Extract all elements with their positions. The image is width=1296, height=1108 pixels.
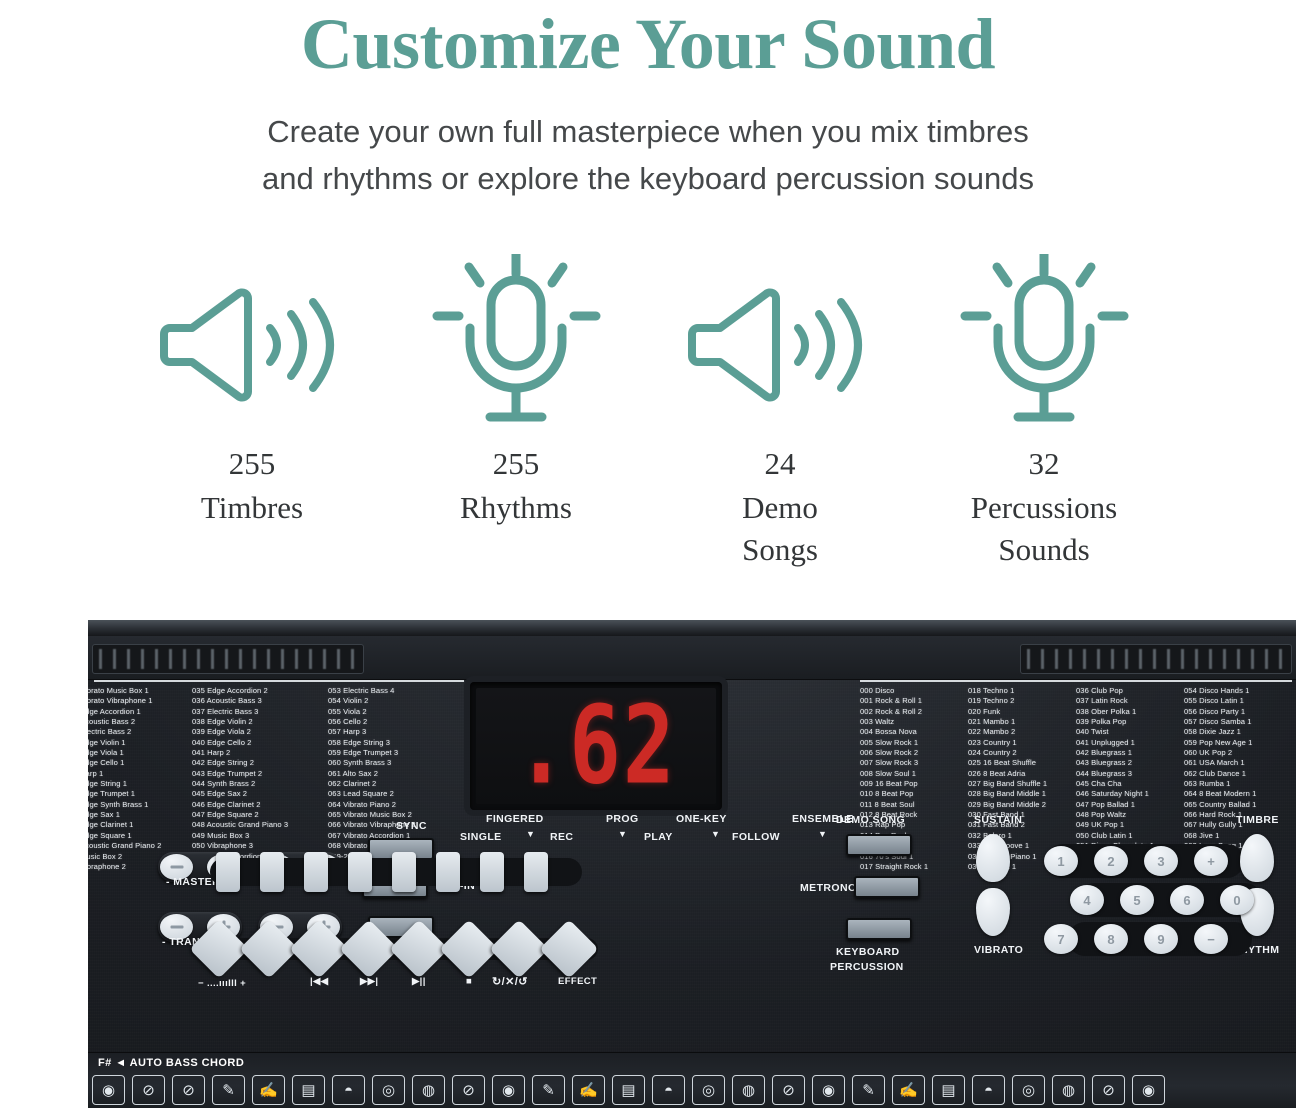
rhythm-entry: 059 Pop New Age 1 xyxy=(1184,738,1292,748)
snare-icon[interactable]: ◍ xyxy=(732,1075,765,1105)
timbre-entry: 062 Clarinet 2 xyxy=(328,779,458,789)
keypad-key-1[interactable]: 1 xyxy=(1044,846,1078,876)
mode-button[interactable] xyxy=(436,852,460,892)
demo-song-button[interactable] xyxy=(846,834,912,856)
stop-button[interactable] xyxy=(439,919,498,978)
mode-button[interactable] xyxy=(304,852,328,892)
sustain-button[interactable] xyxy=(976,834,1010,882)
rhythm-entry: 043 Bluegrass 2 xyxy=(1076,758,1184,768)
mode-button[interactable] xyxy=(348,852,372,892)
promo-page: Customize Your Sound Create your own ful… xyxy=(0,0,1296,1108)
timbre-entry: Electric Bass 2 xyxy=(88,727,192,737)
rhythm-entry: 011 8 Beat Soul xyxy=(860,800,968,810)
sync-label: SYNC xyxy=(396,820,427,832)
cymbal-icon[interactable]: ⊘ xyxy=(772,1075,805,1105)
timbre-entry: 063 Lead Square 2 xyxy=(328,789,458,799)
keyboard-percussion-label-2: PERCUSSION xyxy=(830,961,904,973)
keypad-key-3[interactable]: 3 xyxy=(1144,846,1178,876)
rhythm-entry: 037 Latin Rock xyxy=(1076,696,1184,706)
drum-icon[interactable]: ◉ xyxy=(492,1075,525,1105)
timbre-entry: 039 Edge Viola 2 xyxy=(192,727,328,737)
timbre-entry: Edge Accordion 1 xyxy=(88,707,192,717)
feature-rhythms: 255 Rhythms xyxy=(384,250,648,529)
speaker-waves-icon xyxy=(688,250,873,440)
rhythm-entry: 057 Disco Samba 1 xyxy=(1184,717,1292,727)
feature-caption-line-1: Percussions xyxy=(971,487,1117,529)
timbre-entry: 064 Vibrato Piano 2 xyxy=(328,800,458,810)
rhythm-entry: 056 Disco Party 1 xyxy=(1184,707,1292,717)
rhythm-entry: 058 Dixie Jazz 1 xyxy=(1184,727,1292,737)
timbre-entry: 038 Edge Violin 2 xyxy=(192,717,328,727)
hand-clap-icon[interactable]: ✍ xyxy=(252,1075,285,1105)
brush-icon[interactable]: ✎ xyxy=(532,1075,565,1105)
timbre-entry: Edge Trumpet 1 xyxy=(88,789,192,799)
timbre-entry: 035 Edge Accordion 2 xyxy=(192,686,328,696)
timbre-entry: 046 Edge Clarinet 2 xyxy=(192,800,328,810)
rhythm-entry: 036 Club Pop xyxy=(1076,686,1184,696)
led-display: .62 xyxy=(470,682,722,810)
chevron-down-icon: ▼ xyxy=(526,829,535,839)
rhythm-entry: 003 Waltz xyxy=(860,717,968,727)
timbre-entry: 045 Edge Sax 2 xyxy=(192,789,328,799)
rhythm-entry: 019 Techno 2 xyxy=(968,696,1076,706)
timbre-entry: 058 Edge String 3 xyxy=(328,738,458,748)
chevron-down-icon: ▼ xyxy=(818,829,827,839)
subtitle-line-1: Create your own full masterpiece when yo… xyxy=(0,108,1296,155)
mode-button[interactable] xyxy=(480,852,504,892)
feature-number: 255 xyxy=(493,442,540,487)
rhythm-entry: 061 USA March 1 xyxy=(1184,758,1292,768)
timbre-entry: 037 Electric Bass 3 xyxy=(192,707,328,717)
control-panel: - MASTER VOL + - ACCOM VOL + - TRANSPOSE… xyxy=(88,816,1296,1072)
tom-icon[interactable]: ◓ xyxy=(652,1075,685,1105)
timbre-label: TIMBRE xyxy=(1236,814,1279,826)
tambourine-icon[interactable]: ◎ xyxy=(372,1075,405,1105)
keypad-key-7[interactable]: 7 xyxy=(1044,924,1078,954)
timbre-entry: 043 Edge Trumpet 2 xyxy=(192,769,328,779)
timbre-entry: Edge Cello 1 xyxy=(88,758,192,768)
timbre-entry: 054 Violin 2 xyxy=(328,696,458,706)
feature-caption-line-1: Demo xyxy=(742,487,818,529)
rhythm-entry: 047 Pop Ballad 1 xyxy=(1076,800,1184,810)
timbre-entry: 056 Cello 2 xyxy=(328,717,458,727)
page-title: Customize Your Sound xyxy=(0,0,1296,80)
rhythm-entry: 042 Bluegrass 1 xyxy=(1076,748,1184,758)
rhythm-entry: 007 Slow Rock 3 xyxy=(860,758,968,768)
drum-icon[interactable]: ◉ xyxy=(92,1075,125,1105)
play-pause-icon: ▶|| xyxy=(412,976,426,987)
follow-label: FOLLOW xyxy=(732,831,780,843)
drum-icon[interactable]: ◉ xyxy=(812,1075,845,1105)
prev-track-button[interactable] xyxy=(289,919,348,978)
timbre-entry: Vibrato Vibraphone 1 xyxy=(88,696,192,706)
sustain-label: SUSTAIN xyxy=(974,814,1022,826)
list-divider xyxy=(94,680,464,682)
rhythm-entry: 044 Bluegrass 3 xyxy=(1076,769,1184,779)
next-track-icon: ▶▶| xyxy=(360,976,378,987)
feature-caption-line-2: Sounds xyxy=(971,529,1117,571)
top-trim xyxy=(88,620,1296,636)
rhythm-entry: 038 Ober Polka 1 xyxy=(1076,707,1184,717)
rhythm-entry: 065 Country Ballad 1 xyxy=(1184,800,1292,810)
rhythm-entry: 005 Slow Rock 1 xyxy=(860,738,968,748)
keyboard-percussion-button[interactable] xyxy=(846,918,912,940)
numeric-keypad: 1 2 3 + 4 5 6 0 7 8 9 − xyxy=(1050,838,1240,962)
rhythm-entry: 024 Country 2 xyxy=(968,748,1076,758)
tambourine-icon[interactable]: ◎ xyxy=(1012,1075,1045,1105)
feature-caption: Timbres xyxy=(201,487,303,529)
effect-button[interactable] xyxy=(539,919,598,978)
rhythm-entry: 027 Big Band Shuffle 1 xyxy=(968,779,1076,789)
rhythm-entry: 000 Disco xyxy=(860,686,968,696)
play-label: PLAY xyxy=(644,831,673,843)
speaker-grille-right xyxy=(1020,644,1292,674)
rhythm-entry: 009 16 Beat Pop xyxy=(860,779,968,789)
stop-icon: ■ xyxy=(466,976,472,987)
timbre-entry: Acoustic Bass 2 xyxy=(88,717,192,727)
timbre-entry: Vibrato Music Box 1 xyxy=(88,686,192,696)
rhythm-entry: 064 8 Beat Modern 1 xyxy=(1184,789,1292,799)
rhythm-entry: 010 8 Beat Pop xyxy=(860,789,968,799)
auto-bass-chord-label: F# ◄ AUTO BASS CHORD xyxy=(98,1057,244,1069)
cymbal-icon[interactable]: ⊘ xyxy=(1092,1075,1125,1105)
drum-icon[interactable]: ◉ xyxy=(1132,1075,1165,1105)
keyboard-panel-image: Vibrato Music Box 1Vibrato Vibraphone 1E… xyxy=(88,620,1296,1108)
rec-label: REC xyxy=(550,831,573,843)
timbre-entry: 061 Alto Sax 2 xyxy=(328,769,458,779)
rhythm-entry: 023 Country 1 xyxy=(968,738,1076,748)
led-screen: .62 xyxy=(476,688,716,804)
page-subtitle: Create your own full masterpiece when yo… xyxy=(0,108,1296,202)
mode-button[interactable] xyxy=(524,852,548,892)
bongo-icon[interactable]: ▤ xyxy=(932,1075,965,1105)
keypad-key-0[interactable]: 0 xyxy=(1220,885,1254,915)
feature-caption: Demo Songs xyxy=(742,487,818,571)
volume-up-button[interactable] xyxy=(239,919,298,978)
cymbal-icon[interactable]: ⊘ xyxy=(172,1075,205,1105)
bongo-icon[interactable]: ▤ xyxy=(612,1075,645,1105)
tom-icon[interactable]: ◓ xyxy=(332,1075,365,1105)
hand-clap-icon[interactable]: ✍ xyxy=(892,1075,925,1105)
repeat-shuffle-icon: ↻/✕/↺ xyxy=(492,975,528,988)
fingered-label: FINGERED xyxy=(486,813,544,825)
tambourine-icon[interactable]: ◎ xyxy=(692,1075,725,1105)
rhythm-entry: 008 Slow Soul 1 xyxy=(860,769,968,779)
timbre-button[interactable] xyxy=(1240,834,1274,882)
metronome-button[interactable] xyxy=(854,876,920,898)
microphone-icon xyxy=(429,250,604,440)
keypad-key-5[interactable]: 5 xyxy=(1120,885,1154,915)
timbre-entry: 036 Acoustic Bass 3 xyxy=(192,696,328,706)
keypad-key-plus[interactable]: + xyxy=(1194,846,1228,876)
rhythm-entry: 021 Mambo 1 xyxy=(968,717,1076,727)
rhythm-entry: 041 Unplugged 1 xyxy=(1076,738,1184,748)
vibrato-button[interactable] xyxy=(976,888,1010,936)
speaker-waves-icon xyxy=(160,250,345,440)
rhythm-entry: 046 Saturday Night 1 xyxy=(1076,789,1184,799)
cymbal-icon[interactable]: ⊘ xyxy=(132,1075,165,1105)
mode-button[interactable] xyxy=(260,852,284,892)
timbre-entry: Edge String 1 xyxy=(88,779,192,789)
keypad-key-2[interactable]: 2 xyxy=(1094,846,1128,876)
rhythm-entry: 022 Mambo 2 xyxy=(968,727,1076,737)
feature-demo-songs: 24 Demo Songs xyxy=(648,250,912,571)
prog-label: PROG xyxy=(606,813,639,825)
brush-icon[interactable]: ✎ xyxy=(212,1075,245,1105)
timbre-entry: 059 Edge Trumpet 3 xyxy=(328,748,458,758)
transport-button-row xyxy=(198,926,598,972)
rhythm-entry: 054 Disco Hands 1 xyxy=(1184,686,1292,696)
keypad-key-9[interactable]: 9 xyxy=(1144,924,1178,954)
rhythm-entry: 025 16 Beat Shuffle xyxy=(968,758,1076,768)
mode-button[interactable] xyxy=(392,852,416,892)
rhythm-entry: 001 Rock & Roll 1 xyxy=(860,696,968,706)
keypad-key-8[interactable]: 8 xyxy=(1094,924,1128,954)
rhythm-entry: 029 Big Band Middle 2 xyxy=(968,800,1076,810)
snare-icon[interactable]: ◍ xyxy=(1052,1075,1085,1105)
chevron-down-icon: ▼ xyxy=(618,829,627,839)
feature-percussions: 32 Percussions Sounds xyxy=(912,250,1176,571)
speaker-grille-left xyxy=(92,644,364,674)
volume-down-button[interactable] xyxy=(189,919,248,978)
rhythm-entry: 006 Slow Rock 2 xyxy=(860,748,968,758)
prev-track-icon: |◀◀ xyxy=(310,976,328,987)
timbre-entry: 044 Synth Brass 2 xyxy=(192,779,328,789)
volume-slider-label: − ....ıııIll + xyxy=(198,978,246,989)
list-divider xyxy=(860,680,1292,682)
timbre-entry: Edge Viola 1 xyxy=(88,748,192,758)
mode-button[interactable] xyxy=(216,852,240,892)
rhythm-entry: 060 UK Pop 2 xyxy=(1184,748,1292,758)
rhythm-entry: 039 Polka Pop xyxy=(1076,717,1184,727)
tom-icon[interactable]: ◓ xyxy=(972,1075,1005,1105)
rhythm-entry: 045 Cha Cha xyxy=(1076,779,1184,789)
rhythm-entry: 040 Twist xyxy=(1076,727,1184,737)
snare-icon[interactable]: ◍ xyxy=(412,1075,445,1105)
percussion-icon-row: ◉⊘⊘✎✍▤◓◎◍⊘◉✎✍▤◓◎◍⊘◉✎✍▤◓◎◍⊘◉ xyxy=(92,1075,1165,1105)
hand-clap-icon[interactable]: ✍ xyxy=(572,1075,605,1105)
feature-list: 255 Timbres 255 Rhythms xyxy=(0,250,1296,571)
keyboard-body: Vibrato Music Box 1Vibrato Vibraphone 1E… xyxy=(88,620,1296,1108)
feature-number: 24 xyxy=(765,442,796,487)
feature-number: 32 xyxy=(1029,442,1060,487)
rhythm-entry: 020 Funk xyxy=(968,707,1076,717)
demo-song-label: DEMO SONG xyxy=(836,814,905,826)
rhythm-entry: 018 Techno 1 xyxy=(968,686,1076,696)
bongo-icon[interactable]: ▤ xyxy=(292,1075,325,1105)
keypad-key-minus[interactable]: − xyxy=(1194,924,1228,954)
feature-timbres: 255 Timbres xyxy=(120,250,384,529)
rhythm-entry: 063 Rumba 1 xyxy=(1184,779,1292,789)
feature-caption: Rhythms xyxy=(460,487,572,529)
effect-label: EFFECT xyxy=(558,976,597,987)
feature-number: 255 xyxy=(229,442,276,487)
one-key-label: ONE-KEY xyxy=(676,813,727,825)
rhythm-entry: 026 8 Beat Adria xyxy=(968,769,1076,779)
rhythm-entry: 004 Bossa Nova xyxy=(860,727,968,737)
mode-button-row xyxy=(216,852,576,892)
feature-caption: Percussions Sounds xyxy=(971,487,1117,571)
repeat-shuffle-button[interactable] xyxy=(489,919,548,978)
timbre-entry: 040 Edge Cello 2 xyxy=(192,738,328,748)
rhythm-entry: 028 Big Band Middle 1 xyxy=(968,789,1076,799)
timbre-entry: Harp 1 xyxy=(88,769,192,779)
keypad-key-6[interactable]: 6 xyxy=(1170,885,1204,915)
timbre-entry: 041 Harp 2 xyxy=(192,748,328,758)
keypad-key-4[interactable]: 4 xyxy=(1070,885,1104,915)
rhythm-entry: 055 Disco Latin 1 xyxy=(1184,696,1292,706)
rhythm-entry: 002 Rock & Roll 2 xyxy=(860,707,968,717)
next-track-button[interactable] xyxy=(339,919,398,978)
timbre-entry: 057 Harp 3 xyxy=(328,727,458,737)
timbre-entry: 053 Electric Bass 4 xyxy=(328,686,458,696)
keyboard-percussion-label-1: KEYBOARD xyxy=(836,946,899,958)
rhythm-entry: 062 Club Dance 1 xyxy=(1184,769,1292,779)
timbre-entry: Edge Violin 1 xyxy=(88,738,192,748)
subtitle-line-2: and rhythms or explore the keyboard perc… xyxy=(0,155,1296,202)
chevron-down-icon: ▼ xyxy=(711,829,720,839)
play-pause-button[interactable] xyxy=(389,919,448,978)
led-value: .62 xyxy=(515,692,676,800)
brush-icon[interactable]: ✎ xyxy=(852,1075,885,1105)
cymbal-icon[interactable]: ⊘ xyxy=(452,1075,485,1105)
timbre-entry: Edge Synth Brass 1 xyxy=(88,800,192,810)
feature-caption-line-2: Songs xyxy=(742,529,818,571)
single-label: SINGLE xyxy=(460,831,502,843)
timbre-entry: 042 Edge String 2 xyxy=(192,758,328,768)
timbre-entry: 055 Viola 2 xyxy=(328,707,458,717)
microphone-icon xyxy=(957,250,1132,440)
vibrato-label: VIBRATO xyxy=(974,944,1023,956)
keyboard-key-strip: F# ◄ AUTO BASS CHORD ◉⊘⊘✎✍▤◓◎◍⊘◉✎✍▤◓◎◍⊘◉… xyxy=(88,1052,1296,1108)
timbre-entry: 060 Synth Brass 3 xyxy=(328,758,458,768)
